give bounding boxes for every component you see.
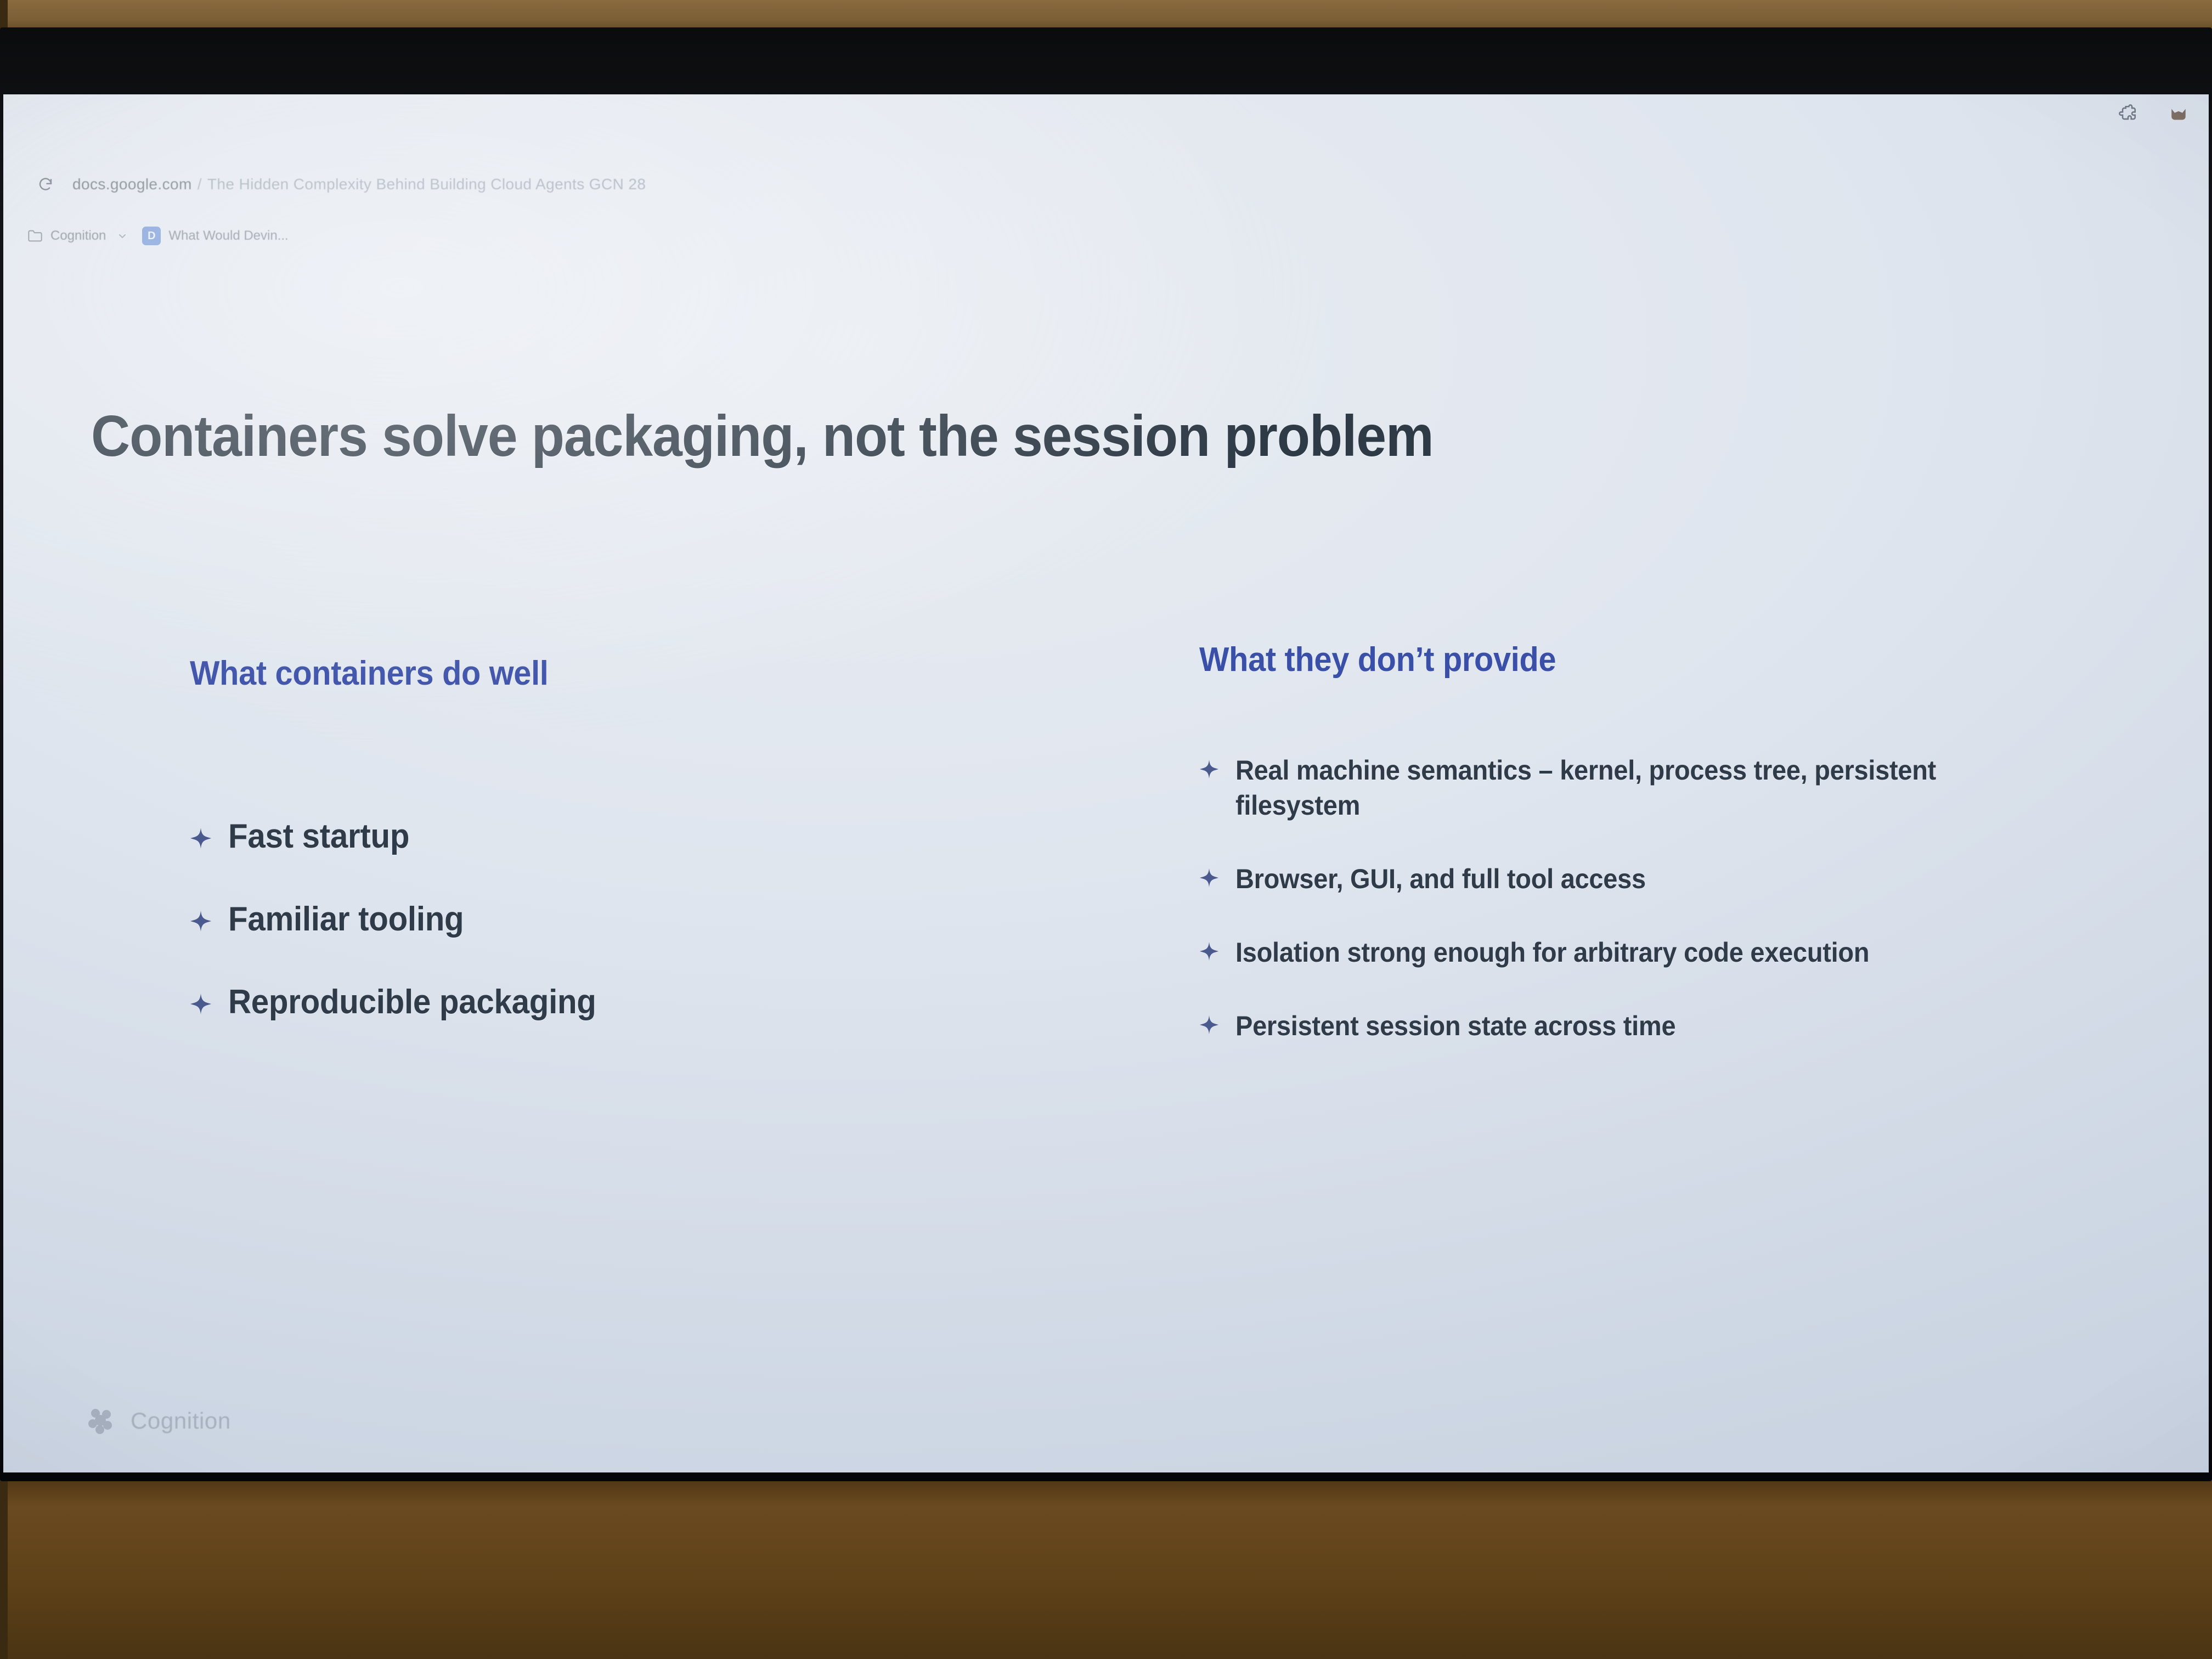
list-item: Reproducible packaging (190, 984, 985, 1021)
cognition-logo-icon (86, 1406, 116, 1436)
cognition-footer-logo: Cognition (86, 1406, 231, 1436)
plus-sparkle-bullet-icon (190, 993, 212, 1015)
list-item: Isolation strong enough for arbitrary co… (1199, 935, 2126, 970)
browser-chrome: docs.google.com/The Hidden Complexity Be… (3, 94, 2209, 232)
slide-title: Containers solve packaging, not the sess… (91, 406, 1673, 467)
monitor-screen: docs.google.com/The Hidden Complexity Be… (3, 94, 2209, 1472)
plus-sparkle-bullet-icon (1199, 941, 1219, 961)
reload-icon[interactable] (37, 176, 54, 193)
slide-canvas: Containers solve packaging, not the sess… (3, 232, 2209, 1472)
list-item-label: Persistent session state across time (1235, 1008, 1675, 1043)
url-domain: docs.google.com (72, 176, 192, 193)
address-bar[interactable]: docs.google.com/The Hidden Complexity Be… (3, 171, 2209, 198)
list-item-label: Browser, GUI, and full tool access (1235, 861, 1646, 896)
url-document-title: The Hidden Complexity Behind Building Cl… (207, 176, 646, 193)
plus-sparkle-bullet-icon (1199, 1015, 1219, 1035)
browser-toolbar-right (2119, 104, 2188, 123)
list-item-label: Real machine semantics – kernel, process… (1235, 753, 2040, 823)
column-heading: What containers do well (190, 654, 549, 693)
list-item: Real machine semantics – kernel, process… (1199, 753, 2126, 823)
list-item: Persistent session state across time (1199, 1008, 2126, 1043)
plus-sparkle-bullet-icon (1199, 868, 1219, 888)
plus-sparkle-bullet-icon (190, 827, 212, 849)
list-item-label: Fast startup (228, 819, 409, 855)
plus-sparkle-bullet-icon (1199, 759, 1219, 779)
list-item: Browser, GUI, and full tool access (1199, 861, 2126, 896)
list-item-label: Familiar tooling (228, 901, 464, 938)
list-item: Familiar tooling (190, 901, 985, 938)
bullet-list: Fast startup Familiar tooling (190, 819, 985, 1067)
list-item: Fast startup (190, 819, 985, 855)
profile-avatar-icon[interactable] (2169, 104, 2188, 123)
plus-sparkle-bullet-icon (190, 910, 212, 932)
cognition-wordmark: Cognition (131, 1408, 231, 1434)
list-item-label: Reproducible packaging (228, 984, 596, 1021)
monitor-bezel: docs.google.com/The Hidden Complexity Be… (0, 27, 2212, 1481)
room-background-bottom (0, 1472, 2212, 1659)
list-item-label: Isolation strong enough for arbitrary co… (1235, 935, 1869, 970)
url-separator: / (198, 176, 202, 193)
url-text: docs.google.com/The Hidden Complexity Be… (72, 176, 646, 193)
bullet-list: Real machine semantics – kernel, process… (1199, 753, 2126, 1082)
extensions-icon[interactable] (2119, 104, 2137, 123)
column-heading: What they don’t provide (1199, 640, 1556, 679)
